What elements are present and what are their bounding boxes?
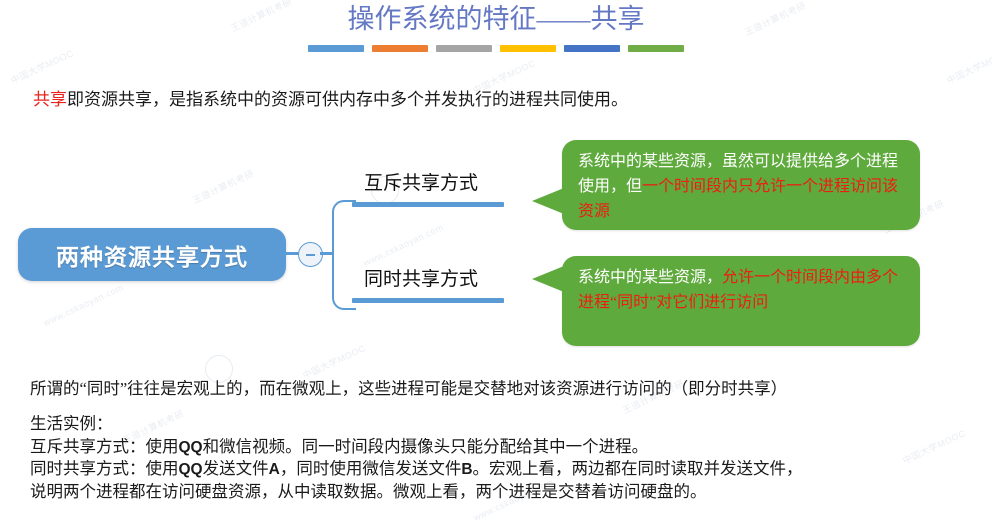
example-mutex-line: 互斥共享方式：使用QQ和微信视频。同一时间段内摄像头只能分配给其中一个进程。 bbox=[30, 436, 803, 459]
example-mutex-app: QQ bbox=[179, 439, 203, 456]
definition-paragraph: 共享即资源共享，是指系统中的资源可供内存中多个并发执行的进程共同使用。 bbox=[33, 88, 628, 111]
mindmap-branch-mutex[interactable]: 互斥共享方式 bbox=[352, 162, 512, 210]
callout-tail bbox=[532, 188, 564, 214]
example-simul-mid: 发送文件 bbox=[203, 459, 269, 478]
callout-mutex: 系统中的某些资源，虽然可以提供给多个进程使用，但一个时间段内只允许一个进程访问该… bbox=[562, 140, 920, 230]
mindmap-branch-underline bbox=[352, 202, 504, 207]
mindmap-root-node[interactable]: 两种资源共享方式 bbox=[18, 228, 286, 281]
title-divider-bars bbox=[0, 45, 992, 52]
definition-keyword: 共享 bbox=[33, 90, 67, 109]
mindmap-branch-simultaneous[interactable]: 同时共享方式 bbox=[352, 258, 512, 306]
watermark-text: 中国大学MOOC bbox=[944, 46, 992, 87]
divider-bar-3 bbox=[436, 45, 492, 52]
life-examples-block: 生活实例： 互斥共享方式：使用QQ和微信视频。同一时间段内摄像头只能分配给其中一… bbox=[30, 413, 803, 503]
mindmap-branch-label: 互斥共享方式 bbox=[364, 168, 478, 195]
divider-bar-6 bbox=[628, 45, 684, 52]
callout-tail bbox=[532, 266, 564, 292]
callout-normal-text: 系统中的某些资源， bbox=[578, 269, 722, 286]
example-simul-file-a: A bbox=[269, 461, 280, 478]
watermark-text: 中国大学MOOC bbox=[900, 426, 967, 467]
example-mutex-prefix: 互斥共享方式：使用 bbox=[30, 437, 179, 456]
example-simul-app: QQ bbox=[179, 461, 203, 478]
minus-circle-icon[interactable] bbox=[298, 242, 323, 267]
example-simul-suffix: 。宏观上看，两边都在同时读取并发送文件， bbox=[473, 459, 803, 478]
divider-bar-5 bbox=[564, 45, 620, 52]
divider-bar-2 bbox=[372, 45, 428, 52]
mindmap-branch-underline bbox=[352, 298, 504, 303]
example-simul-mid2: ，同时使用微信发送文件 bbox=[280, 459, 462, 478]
example-simultaneous-line-1: 同时共享方式：使用QQ发送文件A，同时使用微信发送文件B。宏观上看，两边都在同时… bbox=[30, 458, 803, 481]
example-simul-prefix: 同时共享方式：使用 bbox=[30, 459, 179, 478]
divider-bar-4 bbox=[500, 45, 556, 52]
mindmap-branch-label: 同时共享方式 bbox=[364, 264, 478, 291]
note-micro-macro: 所谓的“同时”往往是宏观上的，而在微观上，这些进程可能是交替地对该资源进行访问的… bbox=[30, 377, 787, 400]
example-simul-file-b: B bbox=[461, 461, 472, 478]
example-simultaneous-line-2: 说明两个进程都在访问硬盘资源，从中读取数据。微观上看，两个进程是交替着访问硬盘的… bbox=[30, 481, 803, 504]
divider-bar-1 bbox=[308, 45, 364, 52]
mindmap-root-label: 两种资源共享方式 bbox=[56, 238, 248, 272]
definition-rest: 即资源共享，是指系统中的资源可供内存中多个并发执行的进程共同使用。 bbox=[67, 90, 628, 109]
examples-heading: 生活实例： bbox=[30, 413, 803, 436]
callout-simultaneous: 系统中的某些资源，允许一个时间段内由多个进程“同时”对它们进行访问 bbox=[562, 256, 920, 346]
slide-title: 操作系统的特征——共享 bbox=[0, 2, 992, 36]
watermark-text: 中国大学MOOC bbox=[8, 46, 75, 87]
example-mutex-suffix: 和微信视频。同一时间段内摄像头只能分配给其中一个进程。 bbox=[203, 437, 649, 456]
